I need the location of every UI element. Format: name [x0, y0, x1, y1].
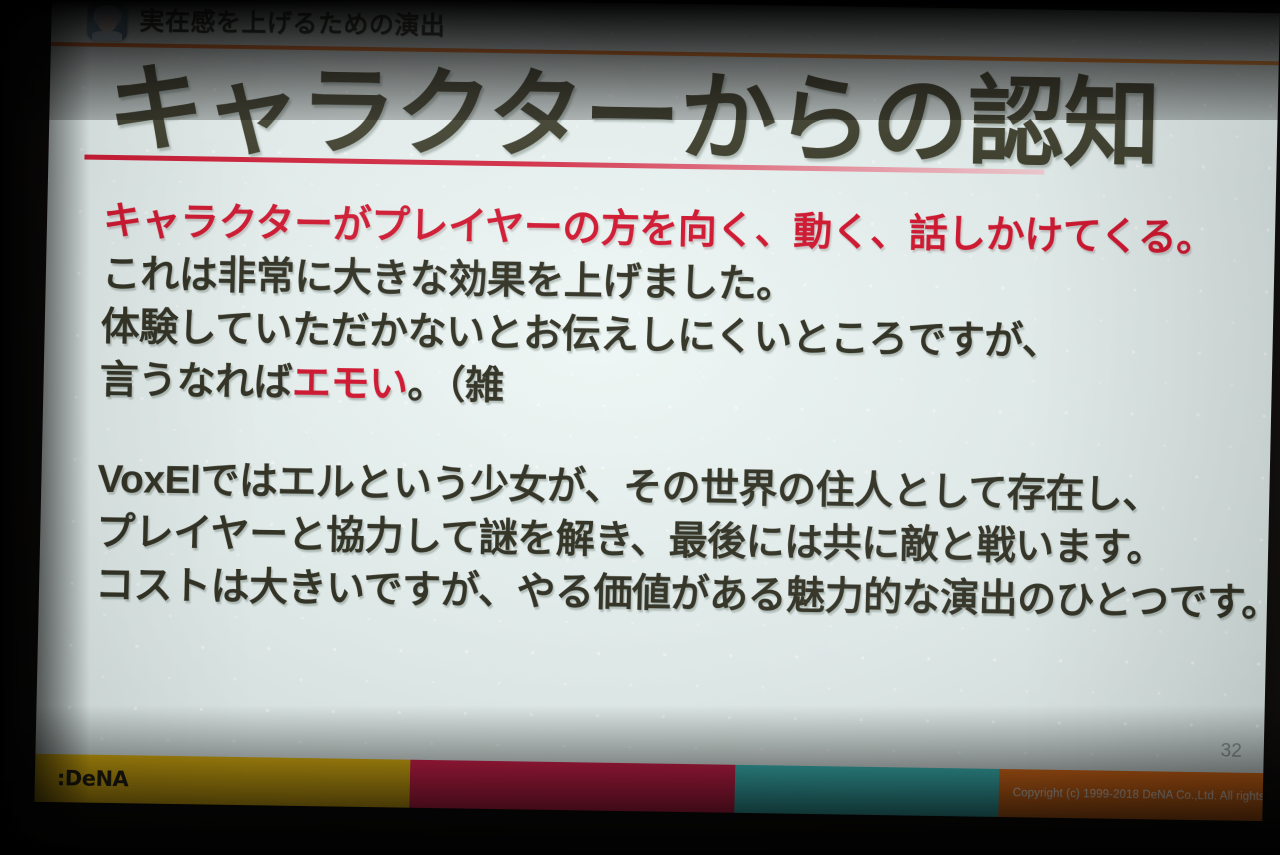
slide-body: キャラクターがプレイヤーの方を向く、動く、話しかけてくる。 これは非常に大きな効…	[95, 195, 1244, 630]
body-line-4-suffix: 。（雑	[407, 364, 504, 408]
slide-surface: 実在感を上げるための演出 キャラクターからの認知 キャラクターがプレイヤーの方を…	[34, 0, 1279, 821]
room-top-shadow	[0, 0, 1280, 120]
body-line-4-accent: エモい	[292, 362, 408, 407]
body-line-4-prefix: 言うなれば	[99, 359, 292, 405]
room-bottom-shadow	[0, 705, 1280, 855]
projected-slide-photo: 実在感を上げるための演出 キャラクターからの認知 キャラクターがプレイヤーの方を…	[0, 0, 1280, 855]
